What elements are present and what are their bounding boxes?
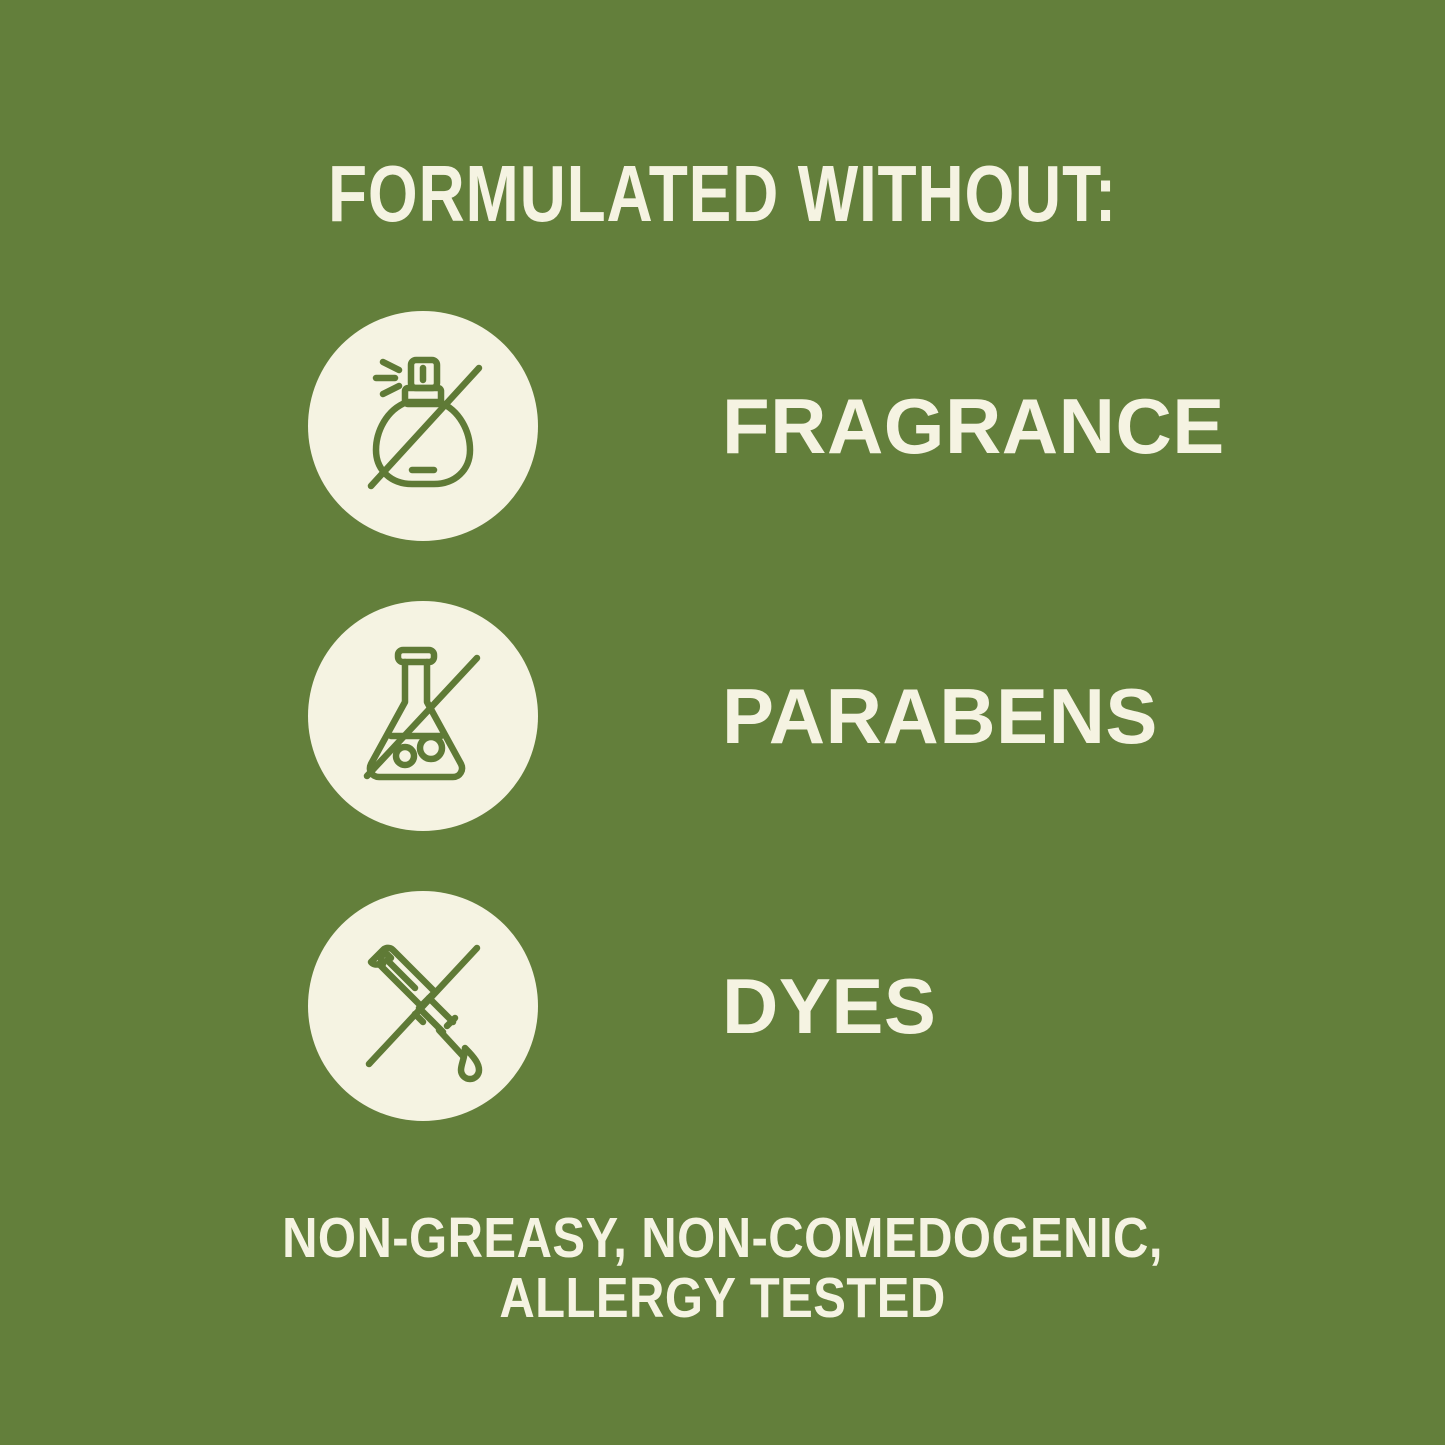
formulated-without-infographic: FORMULATED WITHOUT:: [0, 0, 1445, 1445]
dyes-badge: [308, 891, 538, 1121]
footer-line-1: NON-GREASY, NON-COMEDOGENIC,: [101, 1208, 1344, 1268]
claims-list: FRAGRANCE: [0, 311, 1445, 1181]
no-fragrance-bottle-icon: [343, 346, 503, 506]
footer-claims: NON-GREASY, NON-COMEDOGENIC, ALLERGY TES…: [101, 1208, 1344, 1328]
list-item-label: PARABENS: [722, 601, 1158, 831]
no-parabens-flask-icon: [343, 636, 503, 796]
fragrance-badge: [308, 311, 538, 541]
page-title: FORMULATED WITHOUT:: [145, 152, 1301, 236]
list-item: DYES: [0, 891, 1445, 1121]
list-item: PARABENS: [0, 601, 1445, 831]
list-item-label: FRAGRANCE: [722, 311, 1225, 541]
no-dyes-dropper-icon: [343, 926, 503, 1086]
parabens-badge: [308, 601, 538, 831]
list-item-label: DYES: [722, 891, 936, 1121]
footer-line-2: ALLERGY TESTED: [101, 1268, 1344, 1328]
list-item: FRAGRANCE: [0, 311, 1445, 541]
